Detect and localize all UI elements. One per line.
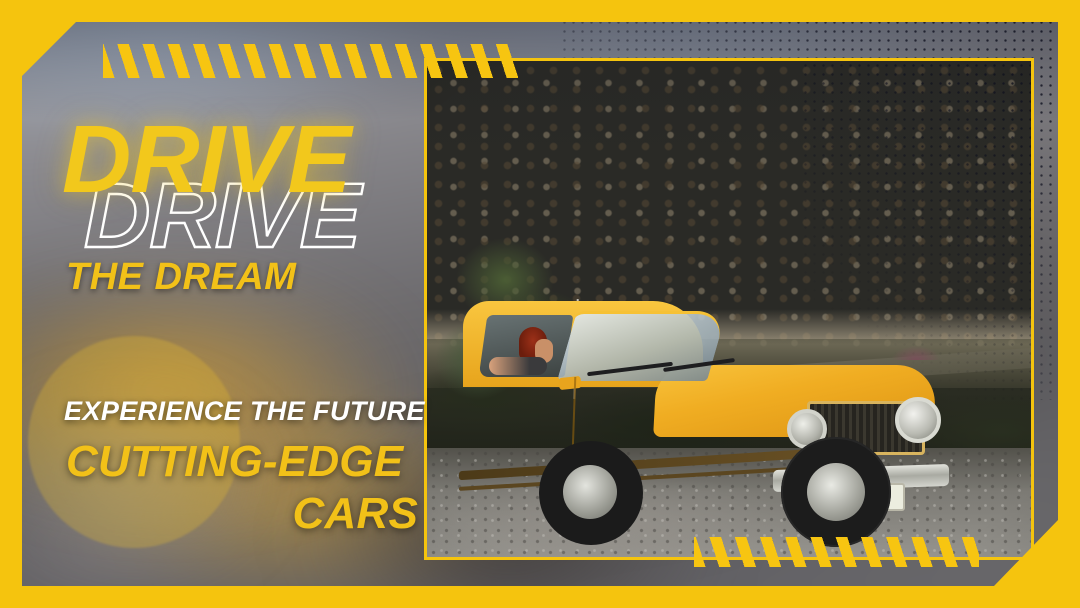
tagline-line-1: CUTTING-EDGE [66,437,403,487]
photo-dot-overlay [801,61,1031,401]
subheadline-text: THE DREAM [66,256,296,299]
stripe-band-top [103,44,518,78]
kicker-text: EXPERIENCE THE FUTURE [64,396,425,427]
hero-photo [427,61,1031,557]
poster-canvas: DRIVE DRIVE THE DREAM EXPERIENCE THE FUT… [0,0,1080,608]
headline-text: DRIVE [62,112,350,208]
hero-photo-frame [424,58,1034,560]
tagline-line-2: CARS [66,489,418,539]
stripe-band-bottom [694,537,979,567]
